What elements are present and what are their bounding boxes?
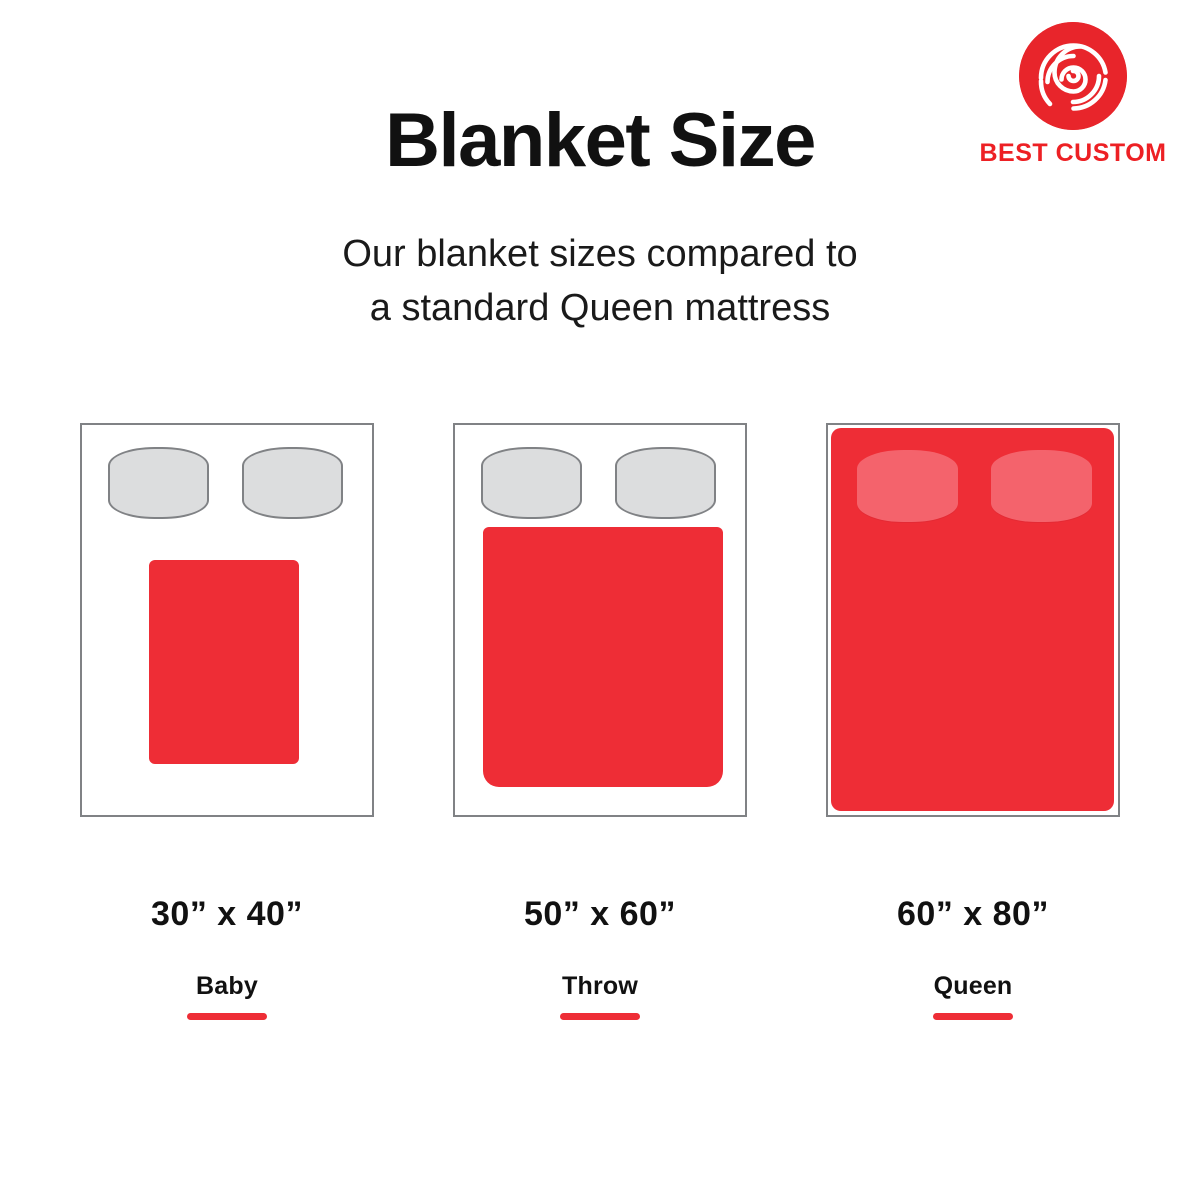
caption-name-throw: Throw <box>453 972 747 1001</box>
caption-underline-queen <box>933 1013 1013 1020</box>
pillow-icon-right <box>615 447 716 519</box>
bed-diagram-baby <box>80 423 374 817</box>
blanket-shape-throw <box>483 527 723 787</box>
bed-comparison-row <box>0 423 1200 823</box>
pillow-icon-left <box>108 447 209 519</box>
caption-size-queen: 60” x 80” <box>826 895 1120 934</box>
bed-captions-row: 30” x 40” Baby 50” x 60” Throw 60” x 80”… <box>0 895 1200 1055</box>
caption-underline-throw <box>560 1013 640 1020</box>
blanket-shape-baby <box>149 560 299 764</box>
subtitle-line-1: Our blanket sizes compared to <box>0 228 1200 282</box>
blanket-shape-queen <box>831 428 1114 811</box>
caption-size-baby: 30” x 40” <box>80 895 374 934</box>
pillow-icon-right-through-blanket <box>991 450 1092 522</box>
page-title: Blanket Size <box>0 103 1200 179</box>
blanket-size-infographic: { "brand": { "logo_icon": "fingerprint-s… <box>0 0 1200 1200</box>
caption-name-baby: Baby <box>80 972 374 1001</box>
bed-diagram-queen <box>826 423 1120 817</box>
caption-size-throw: 50” x 60” <box>453 895 747 934</box>
caption-queen: 60” x 80” Queen <box>826 895 1120 1020</box>
pillow-icon-right <box>242 447 343 519</box>
caption-underline-baby <box>187 1013 267 1020</box>
caption-baby: 30” x 40” Baby <box>80 895 374 1020</box>
pillow-icon-left <box>481 447 582 519</box>
page-subtitle: Our blanket sizes compared to a standard… <box>0 228 1200 336</box>
caption-name-queen: Queen <box>826 972 1120 1001</box>
subtitle-line-2: a standard Queen mattress <box>0 282 1200 336</box>
caption-throw: 50” x 60” Throw <box>453 895 747 1020</box>
pillow-icon-left-through-blanket <box>857 450 958 522</box>
bed-diagram-throw <box>453 423 747 817</box>
